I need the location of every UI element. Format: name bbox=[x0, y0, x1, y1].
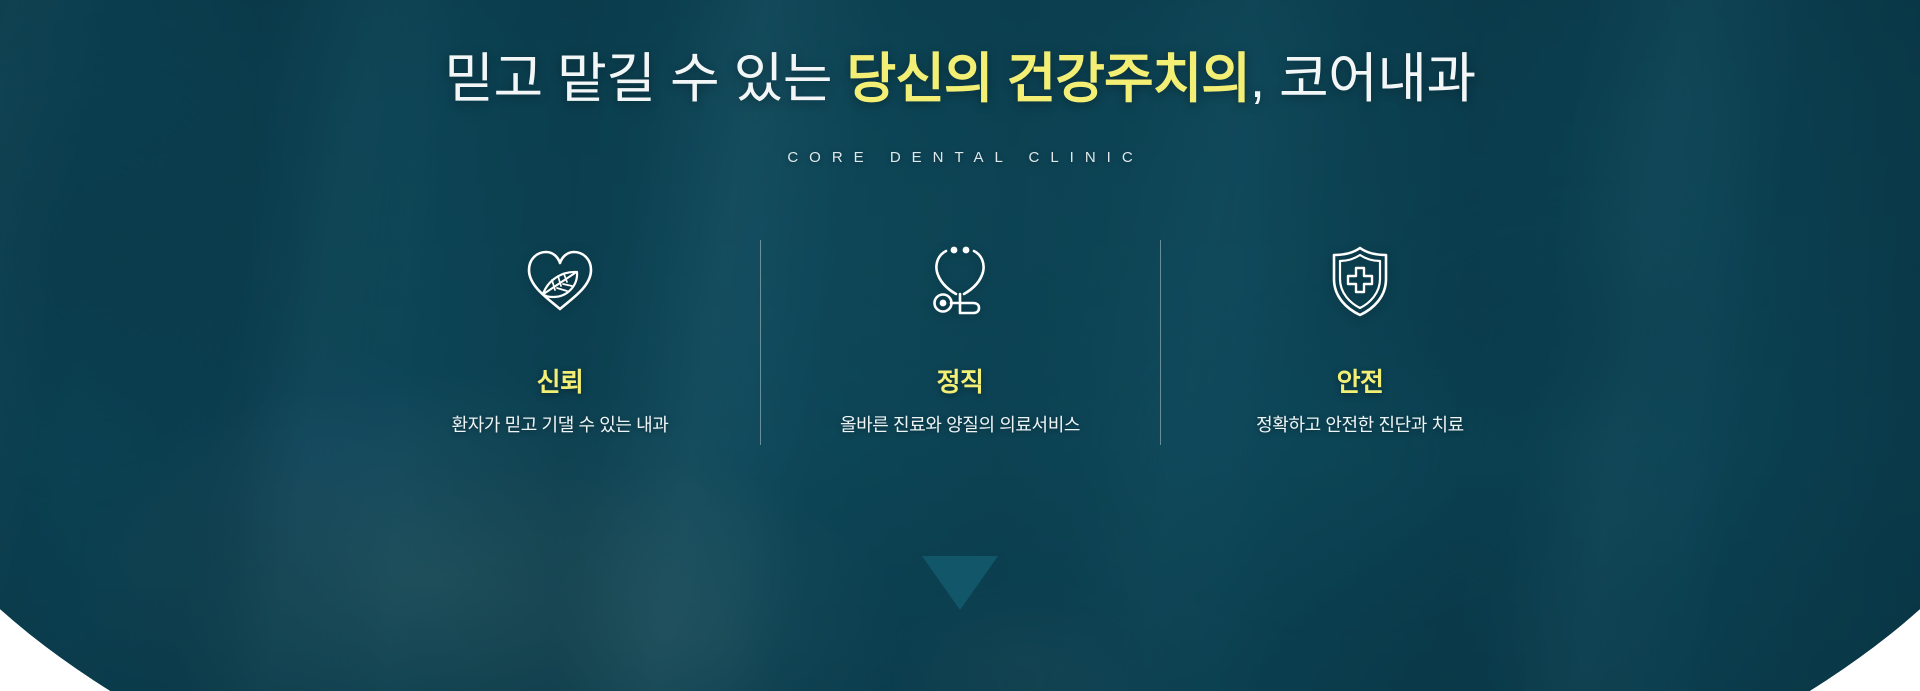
stethoscope-icon bbox=[929, 242, 991, 320]
hero-subline: CORE DENTAL CLINIC bbox=[0, 149, 1920, 166]
hero-headline: 믿고 맡길 수 있는 당신의 건강주치의, 코어내과 bbox=[0, 48, 1920, 112]
feature-item-honesty: 정직 올바른 진료와 양질의 의료서비스 bbox=[760, 240, 1160, 445]
feature-description: 올바른 진료와 양질의 의료서비스 bbox=[840, 411, 1080, 437]
scroll-down-pointer-icon[interactable] bbox=[922, 556, 998, 610]
feature-item-trust: 신뢰 환자가 믿고 기댈 수 있는 내과 bbox=[360, 240, 760, 445]
shield-cross-icon bbox=[1329, 242, 1391, 320]
feature-title: 안전 bbox=[1337, 362, 1384, 399]
headline-lead: 믿고 맡길 수 있는 bbox=[444, 49, 846, 109]
feature-description: 정확하고 안전한 진단과 치료 bbox=[1256, 411, 1464, 437]
feature-item-safety: 안전 정확하고 안전한 진단과 치료 bbox=[1160, 240, 1560, 445]
heart-leaf-icon bbox=[524, 242, 596, 320]
hero-banner: 믿고 맡길 수 있는 당신의 건강주치의, 코어내과 CORE DENTAL C… bbox=[0, 0, 1920, 691]
headline-accent: 당신의 건강주치의 bbox=[847, 49, 1250, 109]
feature-title: 신뢰 bbox=[537, 362, 584, 399]
headline-tail: , 코어내과 bbox=[1250, 49, 1476, 109]
feature-title: 정직 bbox=[937, 362, 984, 399]
feature-list: 신뢰 환자가 믿고 기댈 수 있는 내과 bbox=[360, 240, 1560, 445]
feature-description: 환자가 믿고 기댈 수 있는 내과 bbox=[452, 411, 669, 437]
